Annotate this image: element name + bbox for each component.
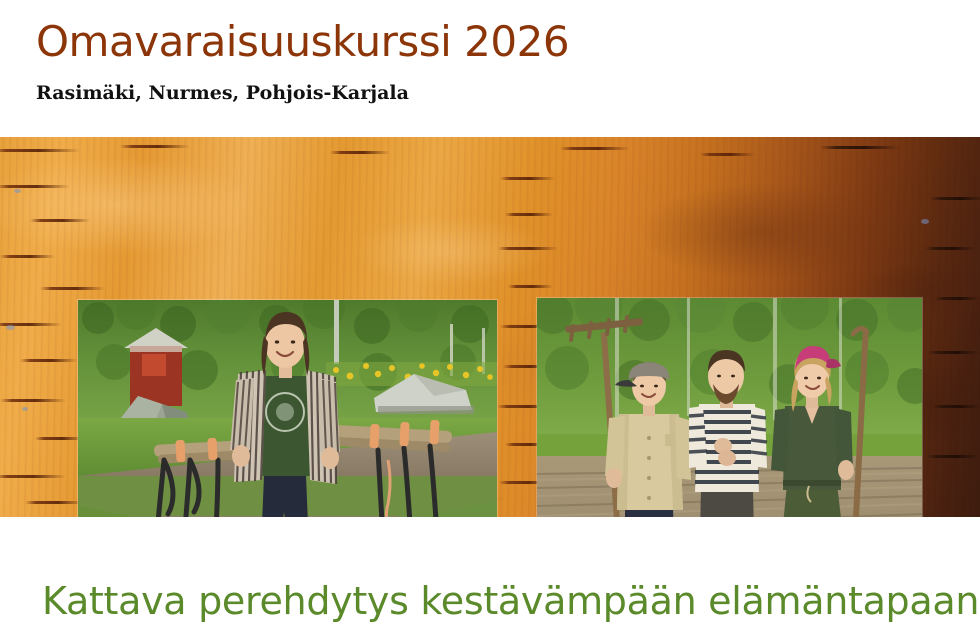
tagline-text: Kattava perehdytys kestävämpään elämänta…	[42, 579, 979, 623]
page-header: Omavaraisuuskurssi 2026 Rasimäki, Nurmes…	[0, 0, 980, 137]
photo-left-illustration	[78, 300, 497, 517]
bark-lenticel	[0, 399, 66, 402]
bark-lenticel	[508, 285, 553, 288]
bark-lenticel	[0, 475, 66, 478]
bark-lenticel	[560, 147, 630, 150]
bark-lenticel	[500, 177, 555, 180]
bark-lenticel	[925, 247, 975, 250]
bark-lenticel	[932, 405, 980, 408]
bark-fleck	[14, 189, 21, 193]
bark-lenticel	[0, 149, 80, 152]
photo-person-carrying-harrow	[78, 300, 497, 517]
bark-fleck	[22, 407, 28, 411]
bark-lenticel	[505, 213, 553, 216]
page-title: Omavaraisuuskurssi 2026	[36, 17, 569, 66]
bark-lenticel	[30, 219, 90, 222]
bark-lenticel	[330, 151, 390, 154]
bark-fleck	[921, 219, 929, 224]
bark-fleck	[6, 325, 15, 330]
photo-three-people-with-tools	[537, 298, 922, 517]
bark-lenticel	[926, 455, 980, 458]
bark-lenticel	[0, 185, 70, 188]
location-subtitle: Rasimäki, Nurmes, Pohjois-Karjala	[36, 82, 409, 104]
photo-right-illustration	[537, 298, 922, 517]
bark-lenticel	[25, 501, 85, 504]
bark-lenticel	[930, 197, 980, 200]
bark-lenticel	[700, 153, 755, 156]
bark-lenticel	[40, 287, 105, 290]
bark-lenticel	[120, 145, 190, 148]
bark-lenticel	[935, 297, 980, 300]
bark-lenticel	[0, 255, 55, 258]
bark-lenticel	[928, 351, 980, 354]
bark-lenticel	[498, 247, 558, 250]
bark-lenticel	[820, 146, 900, 149]
banner-birch-bark	[0, 137, 980, 517]
bark-lenticel	[20, 359, 78, 362]
page-footer: Kattava perehdytys kestävämpään elämänta…	[0, 517, 980, 632]
